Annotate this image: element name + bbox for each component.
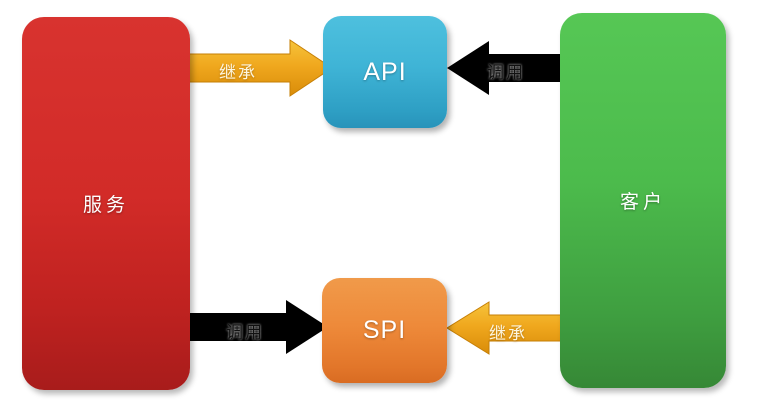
node-service-label: 服务 [83,190,129,217]
arrow-label-inherit-top: 继承 [219,58,257,83]
arrow-inherit-service-to-api[interactable] [186,40,332,96]
node-api[interactable]: API [323,16,447,128]
node-client-label: 客户 [620,187,666,214]
arrow-label-call-top: 调用 [487,58,525,83]
diagram-canvas: 服务 客户 API SPI 继承 调用 调用 [0,0,765,409]
arrow-inherit-service-to-api-shape [186,40,332,96]
arrow-label-call-bottom: 调用 [226,318,264,343]
node-spi[interactable]: SPI [322,278,447,383]
node-client[interactable]: 客户 [560,13,726,388]
node-spi-label: SPI [363,316,406,345]
node-api-label: API [363,58,406,87]
node-service[interactable]: 服务 [22,17,190,390]
arrow-label-inherit-bottom: 继承 [489,319,527,344]
